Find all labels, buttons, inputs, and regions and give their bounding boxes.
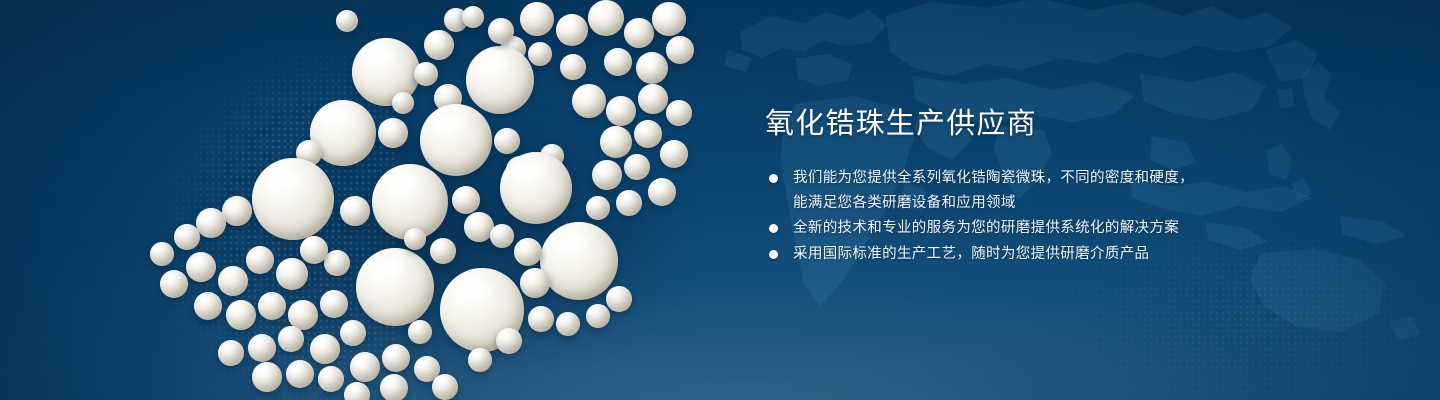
list-item-line-2: 能满足您各类研磨设备和应用领域 <box>793 191 1233 216</box>
feature-list: 我们能为您提供全系列氧化锆陶瓷微珠，不同的密度和硬度， 能满足您各类研磨设备和应… <box>763 166 1233 266</box>
bullet-dot-icon <box>769 224 778 233</box>
list-item: 我们能为您提供全系列氧化锆陶瓷微珠，不同的密度和硬度， 能满足您各类研磨设备和应… <box>763 166 1233 215</box>
list-item-line-1: 采用国际标准的生产工艺，随时为您提供研磨介质产品 <box>793 246 1149 262</box>
list-item: 全新的技术和专业的服务为您的研磨提供系统化的解决方案 <box>763 216 1233 241</box>
bullet-dot-icon <box>769 250 778 259</box>
list-item-line-1: 我们能为您提供全系列氧化锆陶瓷微珠，不同的密度和硬度， <box>793 170 1194 186</box>
page-title: 氧化锆珠生产供应商 <box>765 106 1233 142</box>
banner-copy: 氧化锆珠生产供应商 我们能为您提供全系列氧化锆陶瓷微珠，不同的密度和硬度， 能满… <box>763 106 1233 267</box>
bullet-dot-icon <box>769 174 778 183</box>
hero-banner: 氧化锆珠生产供应商 我们能为您提供全系列氧化锆陶瓷微珠，不同的密度和硬度， 能满… <box>0 0 1440 400</box>
list-item: 采用国际标准的生产工艺，随时为您提供研磨介质产品 <box>763 242 1233 267</box>
list-item-line-1: 全新的技术和专业的服务为您的研磨提供系统化的解决方案 <box>793 220 1179 236</box>
